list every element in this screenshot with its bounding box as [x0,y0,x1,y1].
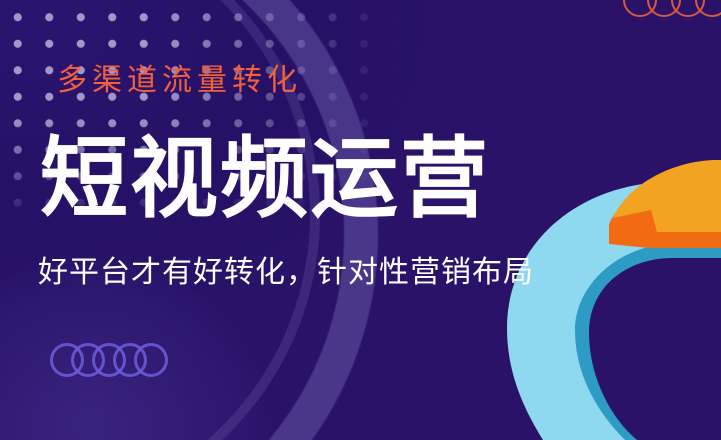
banner-subline: 好平台才有好转化，针对性营销布局 [38,258,534,288]
promo-banner: 多渠道流量转化 短视频运营 好平台才有好转化，针对性营销布局 [0,0,721,440]
banner-copy: 多渠道流量转化 短视频运营 好平台才有好转化，针对性营销布局 [0,0,560,440]
ring-icon [695,0,721,17]
rings-top-right-group [623,0,721,17]
banner-headline: 短视频运营 [40,135,490,223]
banner-kicker: 多渠道流量转化 [57,66,302,96]
